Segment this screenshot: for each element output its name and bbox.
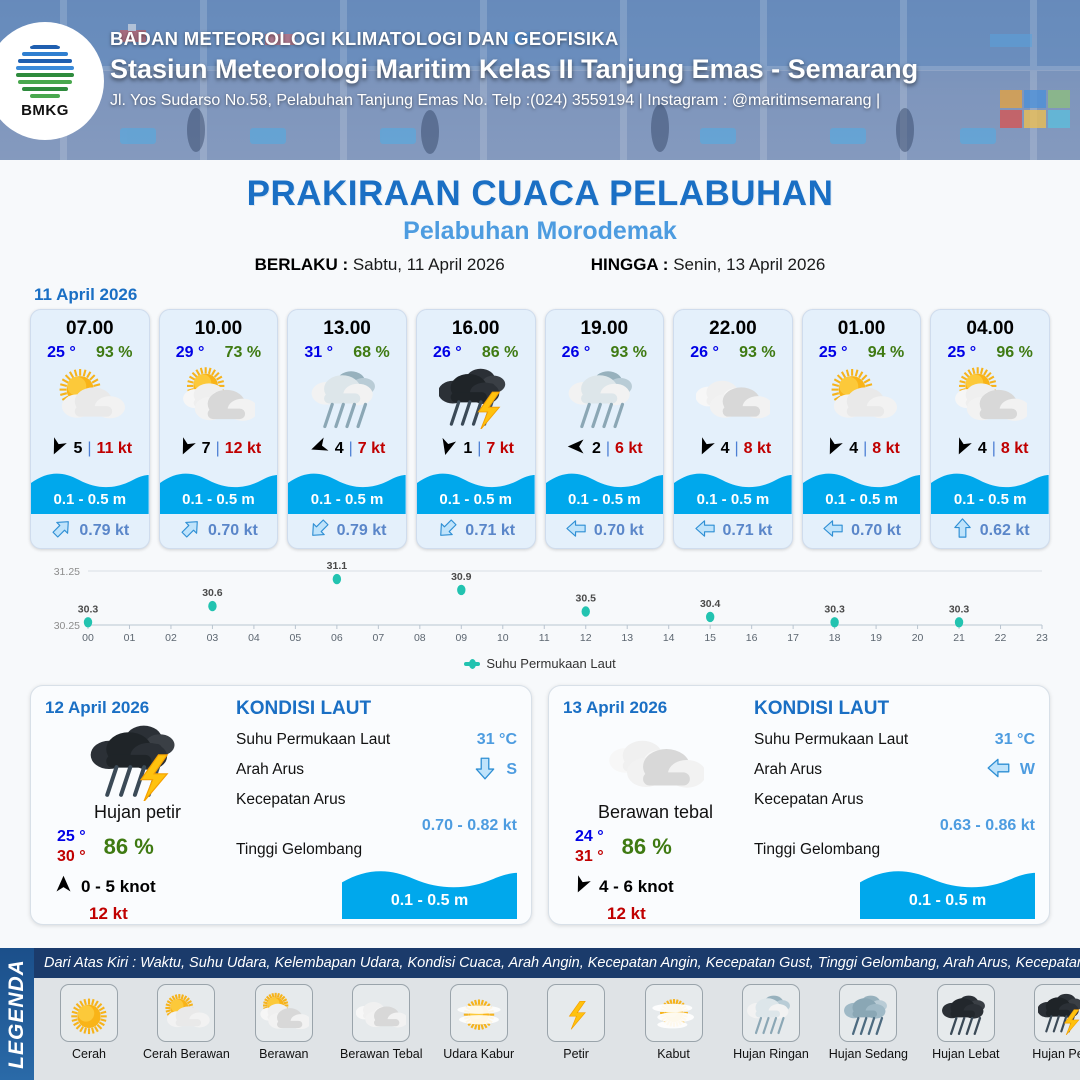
legend-icon-berawan-tebal (352, 984, 410, 1042)
sst-label: Suhu Permukaan Laut (236, 731, 390, 749)
card-time: 04.00 (931, 310, 1049, 340)
legend-icon-udara-kabur (450, 984, 508, 1042)
svg-text:17: 17 (787, 632, 799, 644)
daily-summary-row: 12 April 2026 Hujan petir 25 ° 30 ° 86 %… (0, 685, 1080, 925)
card-current-speed: 0.71 kt (723, 522, 773, 540)
card-humidity: 93 % (96, 344, 132, 362)
card-wind-row: 4 | 8 kt (931, 430, 1049, 470)
sst-row: Suhu Permukaan Laut 31 °C (236, 725, 517, 755)
svg-text:30.25: 30.25 (54, 620, 80, 632)
card-weather-icon-hujan-ringan (546, 364, 664, 430)
wind-direction-arrow-icon (437, 436, 458, 462)
day-temp-humidity: 24 ° 31 ° 86 % (563, 827, 748, 867)
berlaku-value: Sabtu, 11 April 2026 (353, 255, 505, 274)
legend-item: Berawan Tebal (334, 984, 428, 1078)
legend-item-label: Cerah (72, 1047, 106, 1061)
card-wind-row: 7 | 12 kt (160, 430, 278, 470)
legend-item-label: Hujan Lebat (932, 1047, 999, 1061)
card-current-speed: 0.70 kt (851, 522, 901, 540)
current-direction-arrow-icon (694, 517, 717, 545)
current-direction-letter: W (1020, 761, 1035, 779)
legend-icon-hujan-lebat (937, 984, 995, 1042)
legend-item-label: Berawan (259, 1047, 308, 1061)
forecast-card[interactable]: 13.00 31 ° 68 % 4 | 7 kt 0.1 - 0.5 m 0.7… (287, 309, 407, 549)
current-direction-arrow-icon (308, 517, 331, 545)
card-time: 01.00 (803, 310, 921, 340)
card-air-temperature: 26 ° (433, 344, 462, 362)
card-wind-separator: | (606, 440, 610, 458)
card-humidity: 94 % (868, 344, 904, 362)
card-humidity: 86 % (482, 344, 518, 362)
card-weather-icon-hujan-ringan (288, 364, 406, 430)
svg-text:06: 06 (331, 632, 343, 644)
sea-conditions-title: KONDISI LAUT (754, 698, 1035, 720)
sst-chart: 30.2531.25000102030405060708091011121314… (30, 559, 1050, 679)
day-wave-height: 0.1 - 0.5 m (860, 892, 1035, 910)
day-condition: Hujan petir (45, 802, 230, 823)
wave-height-row: Tinggi Gelombang (236, 835, 517, 865)
legend-item: Hujan Lebat (919, 984, 1013, 1078)
card-wave-block: 0.1 - 0.5 m (288, 470, 406, 514)
wave-height-label: Tinggi Gelombang (236, 841, 362, 859)
legend-item: Kabut (627, 984, 721, 1078)
sst-value: 31 °C (995, 731, 1035, 749)
current-direction-value: S (472, 755, 517, 786)
legend-item-row: Cerah Cerah Berawan Berawan Berawan Teba… (34, 978, 1080, 1080)
svg-text:30.3: 30.3 (949, 603, 970, 615)
day-left-column: 12 April 2026 Hujan petir 25 ° 30 ° 86 %… (45, 698, 230, 914)
day-current-direction-arrow-icon (472, 755, 498, 786)
day-weather-icon-berawan-tebal (563, 722, 748, 800)
header-organization: BADAN METEOROLOGI KLIMATOLOGI DAN GEOFIS… (110, 28, 1070, 50)
card-wave-block: 0.1 - 0.5 m (417, 470, 535, 514)
card-wind-row: 2 | 6 kt (546, 430, 664, 470)
chart-legend-marker-icon (464, 662, 480, 666)
legend-note: Dari Atas Kiri : Waktu, Suhu Udara, Kele… (34, 948, 1080, 978)
card-temp-humidity: 25 ° 94 % (803, 340, 921, 362)
card-wave-block: 0.1 - 0.5 m (160, 470, 278, 514)
berlaku-group: BERLAKU : Sabtu, 11 April 2026 (255, 255, 505, 275)
card-wind-separator: | (477, 440, 481, 458)
card-wind-row: 5 | 11 kt (31, 430, 149, 470)
wind-direction-arrow-icon (176, 436, 197, 462)
card-wind-speed: 7 (202, 440, 211, 458)
forecast-card[interactable]: 01.00 25 ° 94 % 4 | 8 kt 0.1 - 0.5 m 0.7… (802, 309, 922, 549)
legend-icon-kabut (645, 984, 703, 1042)
day-wind-speed: 4 - 6 knot (599, 877, 674, 897)
svg-text:23: 23 (1036, 632, 1048, 644)
card-wave-height: 0.1 - 0.5 m (546, 491, 664, 508)
svg-text:08: 08 (414, 632, 426, 644)
svg-text:12: 12 (580, 632, 592, 644)
card-wind-separator: | (216, 440, 220, 458)
hingga-value: Senin, 13 April 2026 (673, 255, 825, 274)
svg-text:10: 10 (497, 632, 509, 644)
day-humidity: 86 % (622, 834, 672, 860)
svg-text:30.3: 30.3 (824, 603, 845, 615)
legend-item: Hujan Sedang (821, 984, 915, 1078)
hingga-group: HINGGA : Senin, 13 April 2026 (591, 255, 826, 275)
current-direction-arrow-icon (822, 517, 845, 545)
svg-text:14: 14 (663, 632, 675, 644)
page-subtitle: Pelabuhan Morodemak (0, 217, 1080, 246)
card-humidity: 93 % (739, 344, 775, 362)
sst-chart-canvas: 30.2531.25000102030405060708091011121314… (30, 559, 1050, 654)
svg-text:02: 02 (165, 632, 177, 644)
day-wave-block: 0.1 - 0.5 m (342, 867, 517, 919)
card-wind-speed: 5 (73, 440, 82, 458)
wind-direction-arrow-icon (309, 436, 330, 462)
card-wind-speed: 4 (721, 440, 730, 458)
card-time: 19.00 (546, 310, 664, 340)
card-wind-row: 4 | 7 kt (288, 430, 406, 470)
card-weather-icon-berawan (160, 364, 278, 430)
bmkg-logo-text: BMKG (21, 102, 69, 119)
sst-label: Suhu Permukaan Laut (754, 731, 908, 749)
current-direction-row: Arah Arus W (754, 755, 1035, 785)
card-wind-speed: 1 (463, 440, 472, 458)
title-block: PRAKIRAAN CUACA PELABUHAN Pelabuhan Moro… (0, 160, 1080, 275)
card-time: 13.00 (288, 310, 406, 340)
berlaku-label: BERLAKU : (255, 255, 349, 274)
svg-text:30.6: 30.6 (202, 587, 223, 599)
current-direction-arrow-icon (50, 517, 73, 545)
card-temp-humidity: 26 ° 93 % (674, 340, 792, 362)
day-gust-speed: 12 kt (563, 904, 748, 924)
card-weather-icon-berawan (931, 364, 1049, 430)
current-speed-label: Kecepatan Arus (754, 791, 863, 809)
legend-item-label: Udara Kabur (443, 1047, 514, 1061)
card-gust-speed: 8 kt (872, 440, 900, 458)
legend-item: Udara Kabur (432, 984, 526, 1078)
card-wave-height: 0.1 - 0.5 m (160, 491, 278, 508)
card-temp-humidity: 25 ° 96 % (931, 340, 1049, 362)
card-time: 16.00 (417, 310, 535, 340)
svg-text:30.3: 30.3 (78, 603, 99, 615)
card-wind-row: 4 | 8 kt (803, 430, 921, 470)
card-current-row: 0.79 kt (31, 514, 149, 548)
svg-text:00: 00 (82, 632, 94, 644)
day-temp-range: 25 ° 30 ° (57, 827, 86, 867)
forecast-card[interactable]: 16.00 26 ° 86 % 1 | 7 kt 0.1 - 0.5 m 0.7… (416, 309, 536, 549)
card-weather-icon-cerah-berawan (31, 364, 149, 430)
legend-icon-petir (547, 984, 605, 1042)
svg-text:13: 13 (621, 632, 633, 644)
card-air-temperature: 26 ° (690, 344, 719, 362)
day-date: 13 April 2026 (563, 698, 748, 718)
current-direction-letter: S (506, 761, 517, 779)
current-speed-label: Kecepatan Arus (236, 791, 345, 809)
card-gust-speed: 6 kt (615, 440, 643, 458)
legend-icon-hujan-petir (1034, 984, 1080, 1042)
card-wave-block: 0.1 - 0.5 m (931, 470, 1049, 514)
card-current-row: 0.70 kt (803, 514, 921, 548)
card-weather-icon-berawan-tebal (674, 364, 792, 430)
card-wind-separator: | (992, 440, 996, 458)
header-address: Jl. Yos Sudarso No.58, Pelabuhan Tanjung… (110, 92, 1070, 110)
legend-item-label: Hujan Petir (1032, 1047, 1080, 1061)
legend-item: Hujan Petir (1016, 984, 1080, 1078)
current-direction-label: Arah Arus (754, 761, 822, 779)
card-current-speed: 0.70 kt (594, 522, 644, 540)
sst-row: Suhu Permukaan Laut 31 °C (754, 725, 1035, 755)
day-wind-direction-arrow-icon (571, 874, 592, 900)
card-current-row: 0.71 kt (674, 514, 792, 548)
legend-item: Hujan Ringan (724, 984, 818, 1078)
day-wind-speed: 0 - 5 knot (81, 877, 156, 897)
card-gust-speed: 8 kt (744, 440, 772, 458)
current-speed-row: Kecepatan Arus (754, 785, 1035, 815)
card-temp-humidity: 29 ° 73 % (160, 340, 278, 362)
day-sea-conditions: KONDISI LAUT Suhu Permukaan Laut 31 °C A… (748, 698, 1035, 914)
card-wave-height: 0.1 - 0.5 m (931, 491, 1049, 508)
card-time: 10.00 (160, 310, 278, 340)
card-current-row: 0.71 kt (417, 514, 535, 548)
card-air-temperature: 25 ° (47, 344, 76, 362)
svg-text:01: 01 (124, 632, 136, 644)
page-title: PRAKIRAAN CUACA PELABUHAN (0, 174, 1080, 214)
svg-text:19: 19 (870, 632, 882, 644)
card-air-temperature: 25 ° (948, 344, 977, 362)
card-wind-separator: | (87, 440, 91, 458)
wind-direction-arrow-icon (47, 436, 68, 462)
day-sea-conditions: KONDISI LAUT Suhu Permukaan Laut 31 °C A… (230, 698, 517, 914)
header-text-block: BADAN METEOROLOGI KLIMATOLOGI DAN GEOFIS… (110, 28, 1070, 110)
chart-legend: Suhu Permukaan Laut (30, 656, 1050, 671)
card-wave-height: 0.1 - 0.5 m (417, 491, 535, 508)
card-time: 22.00 (674, 310, 792, 340)
card-air-temperature: 29 ° (176, 344, 205, 362)
day-wind-direction-arrow-icon (53, 874, 74, 900)
wind-direction-arrow-icon (823, 436, 844, 462)
svg-text:30.4: 30.4 (700, 598, 721, 610)
day-wind-row: 0 - 5 knot (45, 874, 230, 900)
bmkg-globe-icon (14, 43, 76, 101)
card-wind-separator: | (735, 440, 739, 458)
svg-text:16: 16 (746, 632, 758, 644)
svg-text:22: 22 (995, 632, 1007, 644)
svg-text:30.9: 30.9 (451, 571, 472, 583)
legend-item: Cerah (42, 984, 136, 1078)
current-direction-arrow-icon (951, 517, 974, 545)
svg-text:31.25: 31.25 (54, 566, 80, 578)
card-air-temperature: 26 ° (562, 344, 591, 362)
day-temp-max: 31 ° (575, 847, 604, 867)
legend-icon-cerah-berawan (157, 984, 215, 1042)
current-speed-value: 0.63 - 0.86 kt (754, 817, 1035, 835)
day-wave-height: 0.1 - 0.5 m (342, 892, 517, 910)
forecast-card[interactable]: 07.00 25 ° 93 % 5 | 11 kt 0.1 - 0.5 m 0.… (30, 309, 150, 549)
svg-text:09: 09 (455, 632, 467, 644)
day-temp-humidity: 25 ° 30 ° 86 % (45, 827, 230, 867)
svg-text:03: 03 (207, 632, 219, 644)
daily-summary-panel[interactable]: 12 April 2026 Hujan petir 25 ° 30 ° 86 %… (30, 685, 532, 925)
svg-text:04: 04 (248, 632, 260, 644)
svg-text:20: 20 (912, 632, 924, 644)
current-direction-arrow-icon (436, 517, 459, 545)
day-temp-range: 24 ° 31 ° (575, 827, 604, 867)
hingga-label: HINGGA : (591, 255, 669, 274)
forecast-card-row: 07.00 25 ° 93 % 5 | 11 kt 0.1 - 0.5 m 0.… (0, 309, 1080, 549)
current-direction-value: W (986, 755, 1035, 786)
legend-item: Petir (529, 984, 623, 1078)
daily-summary-panel[interactable]: 13 April 2026 Berawan tebal 24 ° 31 ° 86… (548, 685, 1050, 925)
card-gust-speed: 7 kt (358, 440, 386, 458)
legend-side-banner: LEGENDA (0, 948, 34, 1080)
card-humidity: 68 % (353, 344, 389, 362)
card-wave-block: 0.1 - 0.5 m (674, 470, 792, 514)
card-gust-speed: 11 kt (97, 440, 133, 458)
chart-legend-label: Suhu Permukaan Laut (486, 656, 615, 671)
legend-panel: LEGENDA Dari Atas Kiri : Waktu, Suhu Uda… (0, 948, 1080, 1080)
validity-row: BERLAKU : Sabtu, 11 April 2026 HINGGA : … (0, 255, 1080, 275)
wave-height-label: Tinggi Gelombang (754, 841, 880, 859)
card-wind-speed: 4 (335, 440, 344, 458)
current-speed-row: Kecepatan Arus (236, 785, 517, 815)
card-wave-block: 0.1 - 0.5 m (546, 470, 664, 514)
card-current-row: 0.70 kt (160, 514, 278, 548)
svg-text:21: 21 (953, 632, 965, 644)
legend-item: Berawan (237, 984, 331, 1078)
svg-text:30.5: 30.5 (576, 593, 597, 605)
card-current-speed: 0.70 kt (208, 522, 258, 540)
card-temp-humidity: 25 ° 93 % (31, 340, 149, 362)
card-wave-block: 0.1 - 0.5 m (31, 470, 149, 514)
card-wind-speed: 2 (592, 440, 601, 458)
card-wave-height: 0.1 - 0.5 m (674, 491, 792, 508)
card-time: 07.00 (31, 310, 149, 340)
day-wave-block: 0.1 - 0.5 m (860, 867, 1035, 919)
header-station-name: Stasiun Meteorologi Maritim Kelas II Tan… (110, 54, 1070, 85)
card-wind-separator: | (349, 440, 353, 458)
legend-item-label: Petir (563, 1047, 589, 1061)
card-wave-block: 0.1 - 0.5 m (803, 470, 921, 514)
svg-text:07: 07 (373, 632, 385, 644)
day-temp-max: 30 ° (57, 847, 86, 867)
card-wind-speed: 4 (849, 440, 858, 458)
card-humidity: 93 % (611, 344, 647, 362)
legend-item-label: Berawan Tebal (340, 1047, 422, 1061)
legend-icon-berawan (255, 984, 313, 1042)
forecast-card[interactable]: 10.00 29 ° 73 % 7 | 12 kt 0.1 - 0.5 m 0.… (159, 309, 279, 549)
legend-icon-cerah (60, 984, 118, 1042)
card-wind-row: 4 | 8 kt (674, 430, 792, 470)
day-temp-min: 24 ° (575, 827, 604, 847)
wind-direction-arrow-icon (695, 436, 716, 462)
legend-item-label: Hujan Ringan (733, 1047, 809, 1061)
svg-text:15: 15 (704, 632, 716, 644)
day-left-column: 13 April 2026 Berawan tebal 24 ° 31 ° 86… (563, 698, 748, 914)
wind-direction-arrow-icon (566, 436, 587, 462)
current-direction-arrow-icon (565, 517, 588, 545)
card-humidity: 96 % (996, 344, 1032, 362)
card-current-row: 0.79 kt (288, 514, 406, 548)
svg-text:11: 11 (539, 632, 550, 644)
card-humidity: 73 % (225, 344, 261, 362)
legend-main: Dari Atas Kiri : Waktu, Suhu Udara, Kele… (34, 948, 1080, 1080)
card-current-speed: 0.71 kt (465, 522, 515, 540)
svg-text:31.1: 31.1 (327, 560, 348, 572)
forecast-date-label: 11 April 2026 (34, 285, 1080, 305)
legend-icon-hujan-ringan (742, 984, 800, 1042)
card-current-row: 0.62 kt (931, 514, 1049, 548)
day-gust-speed: 12 kt (45, 904, 230, 924)
current-direction-label: Arah Arus (236, 761, 304, 779)
card-wind-speed: 4 (978, 440, 987, 458)
page-header: BMKG BADAN METEOROLOGI KLIMATOLOGI DAN G… (0, 0, 1080, 160)
wave-height-row: Tinggi Gelombang (754, 835, 1035, 865)
forecast-card[interactable]: 22.00 26 ° 93 % 4 | 8 kt 0.1 - 0.5 m 0.7… (673, 309, 793, 549)
card-gust-speed: 12 kt (225, 440, 261, 458)
card-wind-separator: | (863, 440, 867, 458)
card-air-temperature: 25 ° (819, 344, 848, 362)
legend-item-label: Hujan Sedang (829, 1047, 908, 1061)
day-temp-min: 25 ° (57, 827, 86, 847)
sst-value: 31 °C (477, 731, 517, 749)
card-current-row: 0.70 kt (546, 514, 664, 548)
legend-item-label: Kabut (657, 1047, 690, 1061)
day-humidity: 86 % (104, 834, 154, 860)
svg-text:05: 05 (290, 632, 302, 644)
current-direction-arrow-icon (179, 517, 202, 545)
card-current-speed: 0.79 kt (79, 522, 129, 540)
card-gust-speed: 8 kt (1001, 440, 1029, 458)
legend-side-label: LEGENDA (5, 959, 29, 1069)
card-weather-icon-cerah-berawan (803, 364, 921, 430)
card-temp-humidity: 26 ° 86 % (417, 340, 535, 362)
legend-icon-hujan-sedang (839, 984, 897, 1042)
day-date: 12 April 2026 (45, 698, 230, 718)
forecast-card[interactable]: 19.00 26 ° 93 % 2 | 6 kt 0.1 - 0.5 m 0.7… (545, 309, 665, 549)
card-wave-height: 0.1 - 0.5 m (31, 491, 149, 508)
day-current-direction-arrow-icon (986, 755, 1012, 786)
sea-conditions-title: KONDISI LAUT (236, 698, 517, 720)
card-current-speed: 0.79 kt (337, 522, 387, 540)
card-gust-speed: 7 kt (486, 440, 514, 458)
current-direction-row: Arah Arus S (236, 755, 517, 785)
card-temp-humidity: 26 ° 93 % (546, 340, 664, 362)
card-air-temperature: 31 ° (304, 344, 333, 362)
svg-text:18: 18 (829, 632, 841, 644)
legend-item-label: Cerah Berawan (143, 1047, 230, 1061)
card-current-speed: 0.62 kt (980, 522, 1030, 540)
card-temp-humidity: 31 ° 68 % (288, 340, 406, 362)
current-speed-value: 0.70 - 0.82 kt (236, 817, 517, 835)
day-weather-icon-hujan-petir (45, 722, 230, 800)
card-wind-row: 1 | 7 kt (417, 430, 535, 470)
wind-direction-arrow-icon (952, 436, 973, 462)
card-wave-height: 0.1 - 0.5 m (803, 491, 921, 508)
legend-item: Cerah Berawan (139, 984, 233, 1078)
card-wave-height: 0.1 - 0.5 m (288, 491, 406, 508)
forecast-card[interactable]: 04.00 25 ° 96 % 4 | 8 kt 0.1 - 0.5 m 0.6… (930, 309, 1050, 549)
day-condition: Berawan tebal (563, 802, 748, 823)
card-weather-icon-hujan-petir (417, 364, 535, 430)
day-wind-row: 4 - 6 knot (563, 874, 748, 900)
